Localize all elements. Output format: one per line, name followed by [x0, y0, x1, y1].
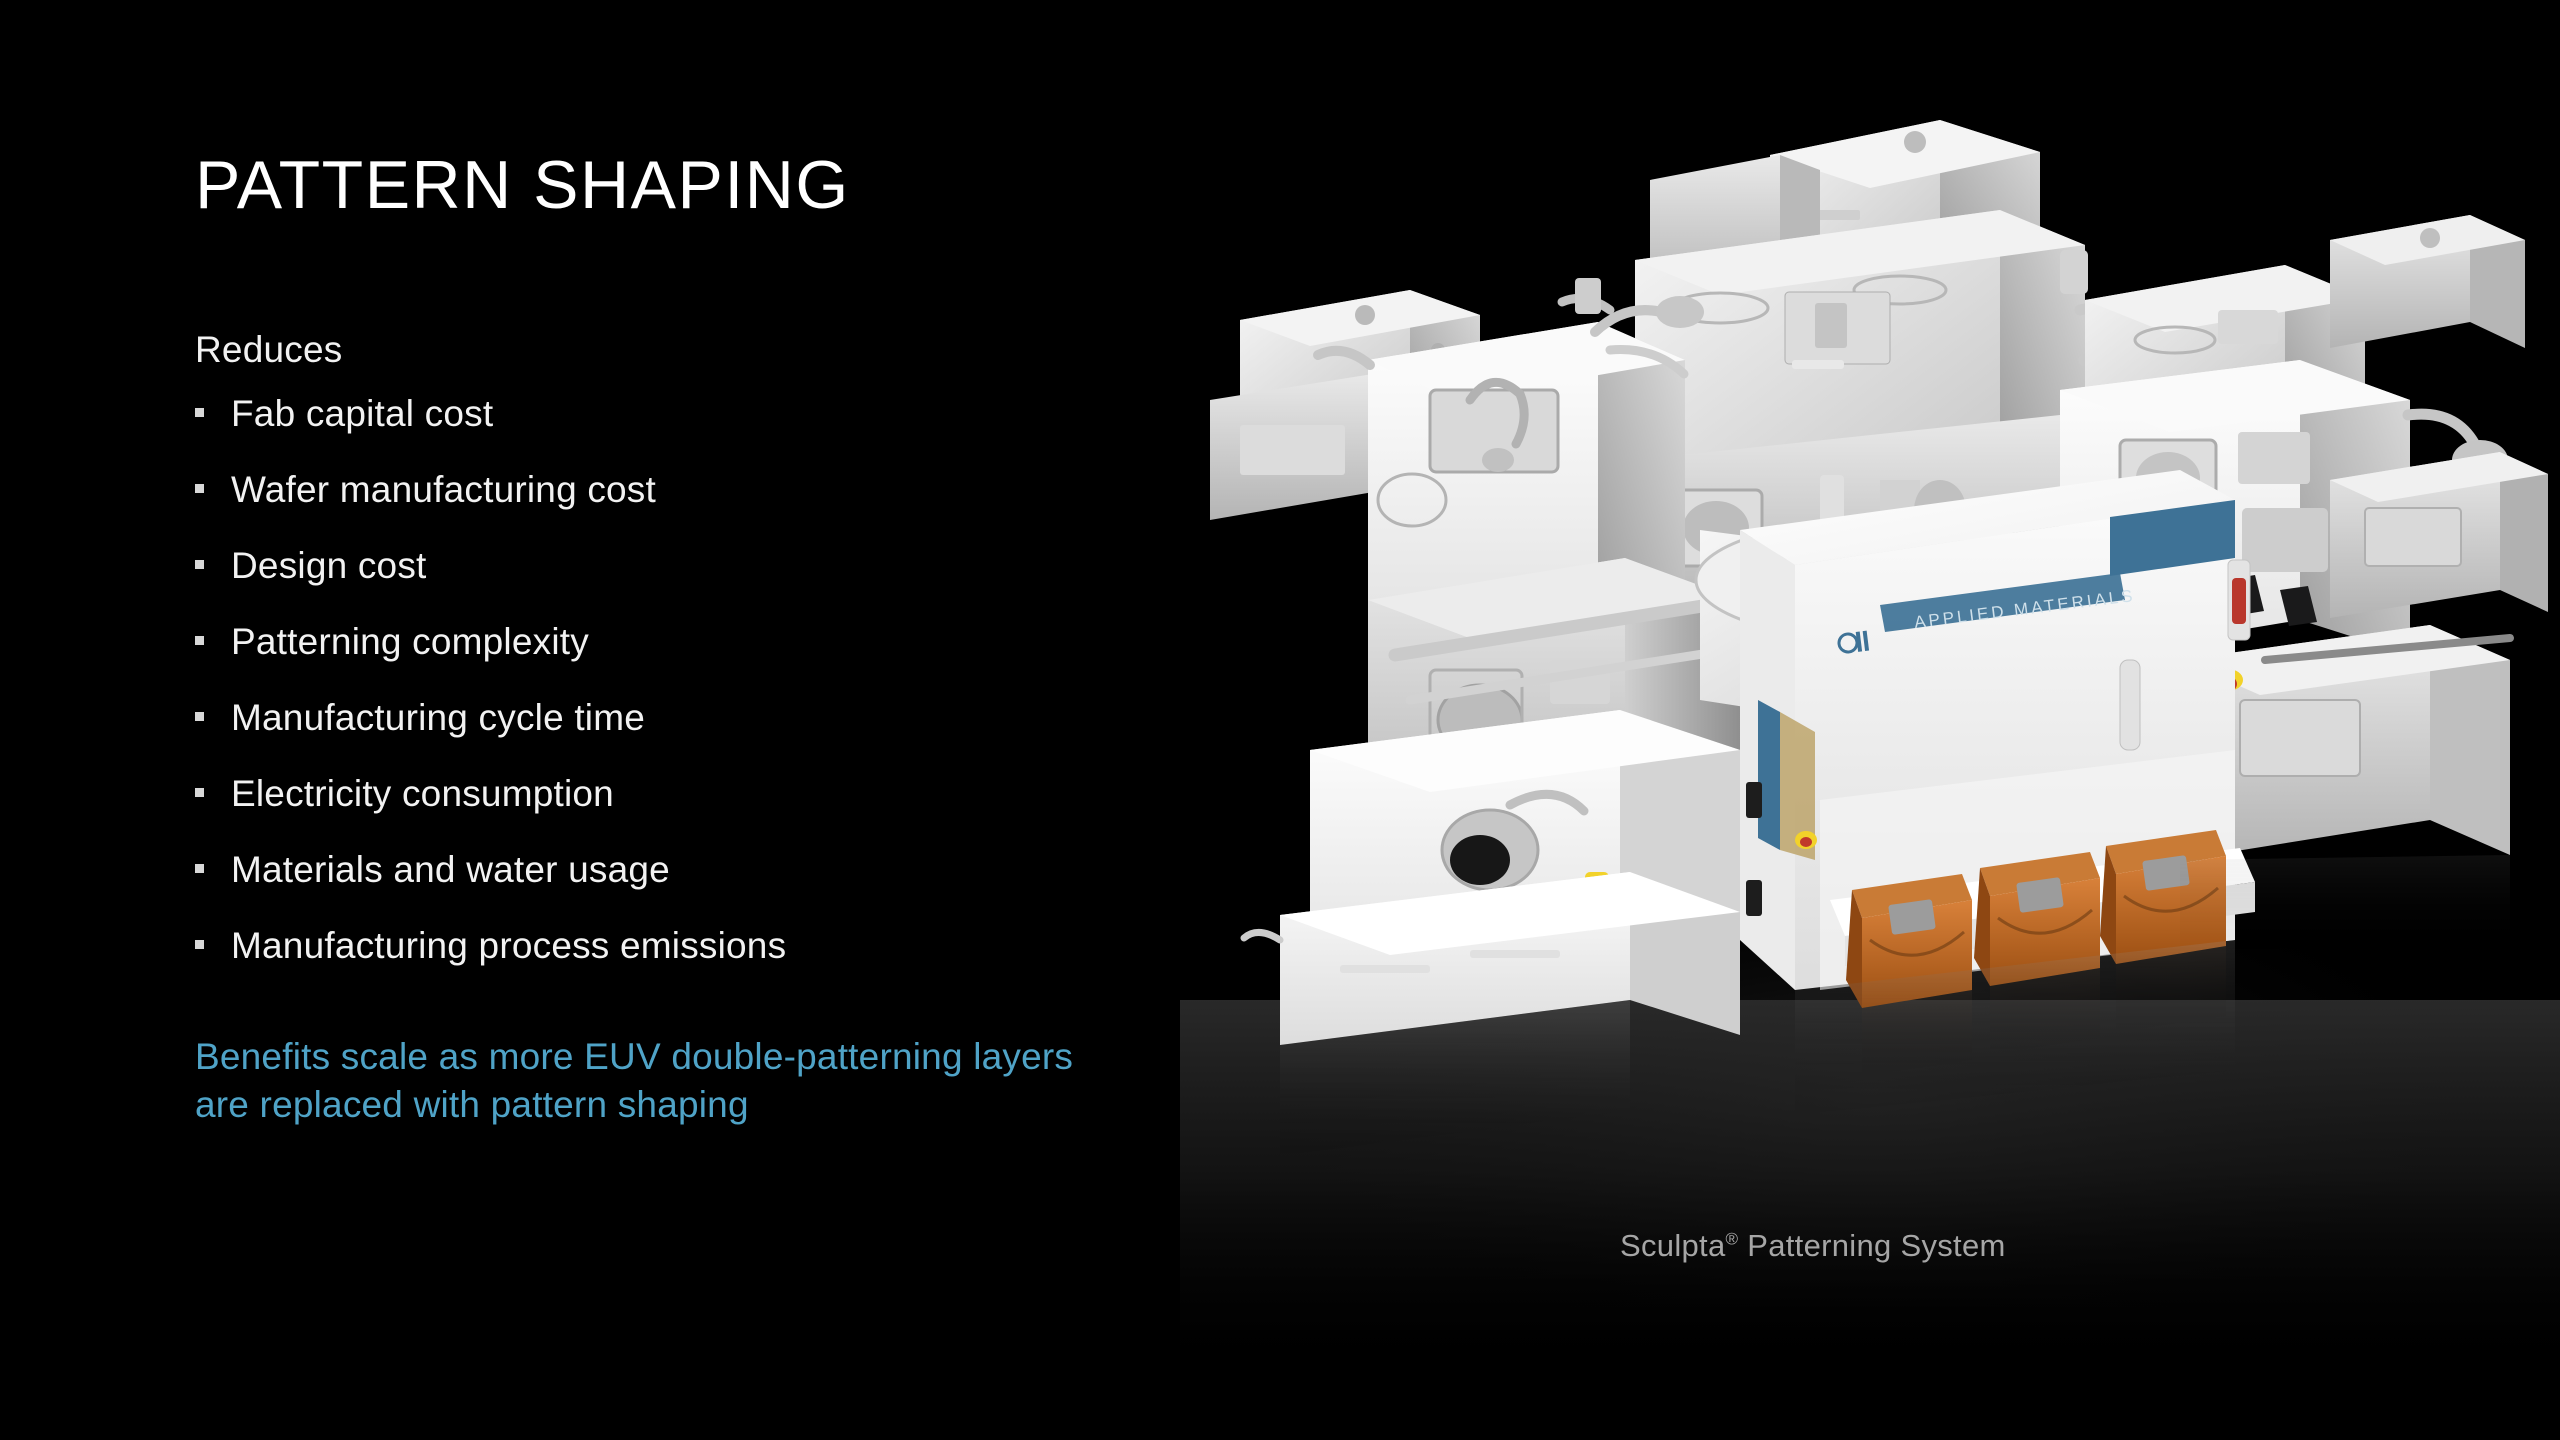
registered-trademark-icon: ®: [1726, 1230, 1739, 1249]
list-item: Patterning complexity: [195, 623, 1195, 699]
machine-base-left: [1244, 710, 1740, 1045]
front-end-module: APPLIED MATERIALS: [1740, 470, 2255, 1008]
list-item-label: Design cost: [231, 547, 427, 584]
product-photo: APPLIED MATERIALS: [1180, 60, 2560, 1380]
square-bullet-icon: [195, 560, 204, 569]
figure-caption: Sculpta® Patterning System: [1620, 1228, 2140, 1264]
list-item-label: Materials and water usage: [231, 851, 670, 888]
list-item-label: Wafer manufacturing cost: [231, 471, 656, 508]
intro-label: Reduces: [195, 329, 1195, 371]
list-item: Manufacturing cycle time: [195, 699, 1195, 775]
square-bullet-icon: [195, 636, 204, 645]
text-column: PATTERN SHAPING Reduces Fab capital cost…: [195, 150, 1195, 1128]
list-item: Manufacturing process emissions: [195, 927, 1195, 1003]
square-bullet-icon: [195, 864, 204, 873]
list-item: Fab capital cost: [195, 395, 1195, 471]
list-item: Design cost: [195, 547, 1195, 623]
benefits-list: Fab capital cost Wafer manufacturing cos…: [195, 395, 1195, 1003]
list-item: Wafer manufacturing cost: [195, 471, 1195, 547]
slide-canvas: PATTERN SHAPING Reduces Fab capital cost…: [0, 0, 2560, 1440]
list-item-label: Manufacturing cycle time: [231, 699, 645, 736]
square-bullet-icon: [195, 408, 204, 417]
highlight-statement: Benefits scale as more EUV double-patter…: [195, 1033, 1095, 1128]
list-item: Materials and water usage: [195, 851, 1195, 927]
list-item-label: Patterning complexity: [231, 623, 589, 660]
square-bullet-icon: [195, 484, 204, 493]
list-item-label: Fab capital cost: [231, 395, 493, 432]
page-title: PATTERN SHAPING: [195, 150, 1195, 221]
figure-caption-name: Sculpta: [1620, 1228, 1726, 1263]
list-item-label: Electricity consumption: [231, 775, 614, 812]
square-bullet-icon: [195, 940, 204, 949]
list-item: Electricity consumption: [195, 775, 1195, 851]
square-bullet-icon: [195, 788, 204, 797]
square-bullet-icon: [195, 712, 204, 721]
list-item-label: Manufacturing process emissions: [231, 927, 786, 964]
figure-caption-suffix: Patterning System: [1738, 1228, 2005, 1263]
